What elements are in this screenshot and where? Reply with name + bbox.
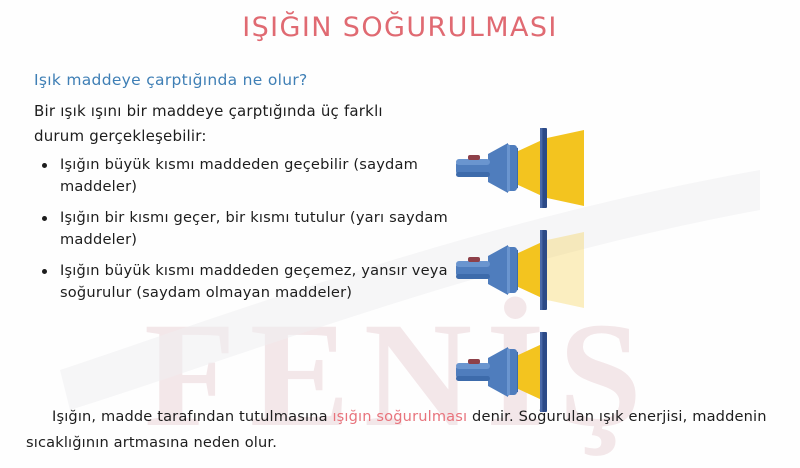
flashlight-switch-icon — [468, 257, 480, 262]
section-question: Işık maddeye çarptığında ne olur? — [34, 70, 464, 91]
list-item: Işığın bir kısmı geçer, bir kısmı tutulu… — [34, 207, 464, 251]
worksheet-page: FENİŞ IŞIĞIN SOĞURULMASI Işık maddeye ça… — [0, 0, 800, 468]
diagram-column — [452, 128, 792, 434]
diagram-transparent-material — [452, 128, 627, 208]
flashlight-switch-icon — [468, 155, 480, 160]
conditions-list: Işığın büyük kısmı maddeden geçebilir (s… — [34, 154, 464, 303]
diagram-translucent-material — [452, 230, 627, 310]
beam-before-icon — [516, 242, 542, 298]
intro-paragraph: Bir ışık ışını bir maddeye çarptığında ü… — [34, 99, 404, 149]
list-item: Işığın büyük kısmı maddeden geçebilir (s… — [34, 154, 464, 198]
flashlight-switch-icon — [468, 359, 480, 364]
closing-part-one: Işığın, madde tarafından tutulmasına — [52, 408, 332, 425]
page-title: IŞIĞIN SOĞURULMASI — [0, 12, 800, 43]
list-item: Işığın büyük kısmı maddeden geçemez, yan… — [34, 260, 464, 304]
beam-before-icon — [516, 344, 542, 400]
text-column: Işık maddeye çarptığında ne olur? Bir ış… — [34, 70, 464, 313]
diagram-opaque-material — [452, 332, 627, 412]
beam-after-icon — [547, 232, 584, 308]
highlighted-term: ışığın soğurulması — [332, 408, 467, 425]
beam-after-icon — [547, 130, 584, 206]
beam-before-icon — [516, 140, 542, 196]
